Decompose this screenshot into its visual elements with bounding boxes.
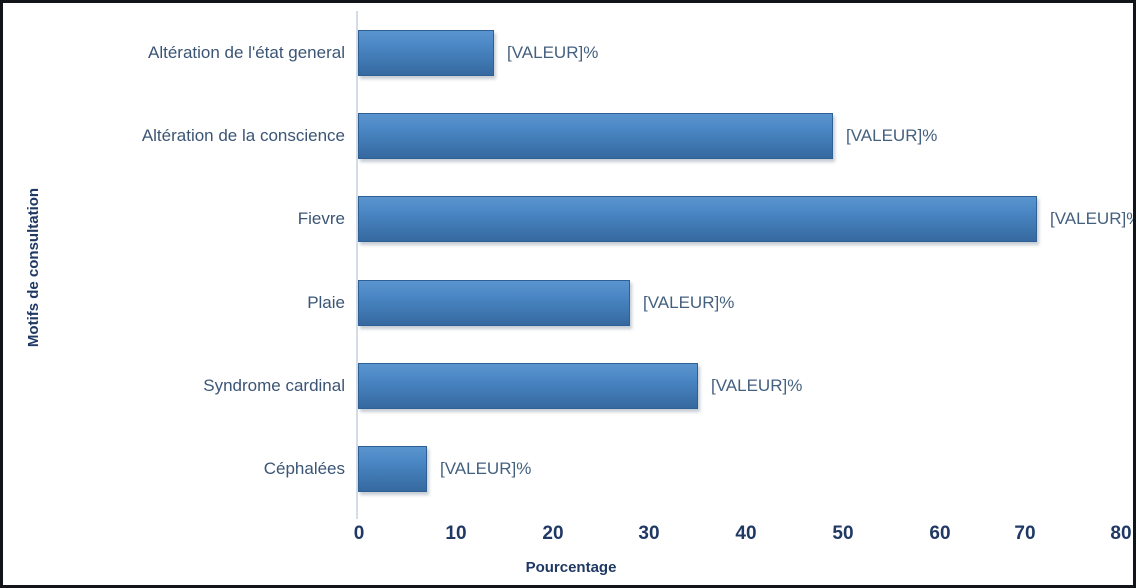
bar[interactable] (358, 30, 494, 76)
category-label: Céphalées (55, 459, 351, 479)
y-axis-title-label: Motifs de consultation (26, 187, 43, 346)
x-axis-title: Pourcentage (3, 559, 1136, 576)
x-tick-label: 50 (832, 523, 853, 545)
category-label: Altération de la conscience (55, 126, 351, 146)
bar[interactable] (358, 363, 698, 409)
bar-row: Syndrome cardinal [VALEUR]% (55, 344, 1133, 427)
bar[interactable] (358, 196, 1037, 242)
bar-track: [VALEUR]% (358, 178, 1133, 261)
bar-row: Plaie [VALEUR]% (55, 261, 1133, 344)
bar[interactable] (358, 113, 833, 159)
bar-track: [VALEUR]% (358, 261, 1133, 344)
bar-track: [VALEUR]% (358, 428, 1133, 511)
x-tick-label: 30 (638, 523, 659, 545)
bar[interactable] (358, 280, 630, 326)
bar-value-label: [VALEUR]% (1050, 209, 1136, 229)
category-label: Fievre (55, 209, 351, 229)
bar[interactable] (358, 446, 427, 492)
category-label: Syndrome cardinal (55, 376, 351, 396)
plot-area: Altération de l'état general [VALEUR]% A… (55, 11, 1133, 511)
category-label: Altération de l'état general (55, 43, 351, 63)
bar-row: Altération de l'état general [VALEUR]% (55, 11, 1133, 94)
x-tick-label: 10 (445, 523, 466, 545)
bar-value-label: [VALEUR]% (507, 43, 598, 63)
bar-row: Fievre [VALEUR]% (55, 178, 1133, 261)
bar-track: [VALEUR]% (358, 344, 1133, 427)
bar-row: Altération de la conscience [VALEUR]% (55, 94, 1133, 177)
x-axis-ticks: 0 10 20 30 40 50 60 70 80 (3, 523, 1136, 553)
bar-value-label: [VALEUR]% (846, 126, 937, 146)
x-tick-label: 70 (1014, 523, 1035, 545)
bar-value-label: [VALEUR]% (440, 459, 531, 479)
bar-value-label: [VALEUR]% (711, 376, 802, 396)
x-tick-label: 80 (1110, 523, 1131, 545)
x-tick-label: 60 (929, 523, 950, 545)
bar-value-label: [VALEUR]% (643, 293, 734, 313)
bar-track: [VALEUR]% (358, 11, 1133, 94)
category-label: Plaie (55, 293, 351, 313)
bar-row: Céphalées [VALEUR]% (55, 428, 1133, 511)
x-tick-label: 0 (354, 523, 365, 545)
chart-container: Motifs de consultation Altération de l'é… (0, 0, 1136, 588)
x-tick-label: 20 (542, 523, 563, 545)
y-axis-title: Motifs de consultation (17, 3, 51, 531)
x-tick-label: 40 (735, 523, 756, 545)
bar-track: [VALEUR]% (358, 94, 1133, 177)
